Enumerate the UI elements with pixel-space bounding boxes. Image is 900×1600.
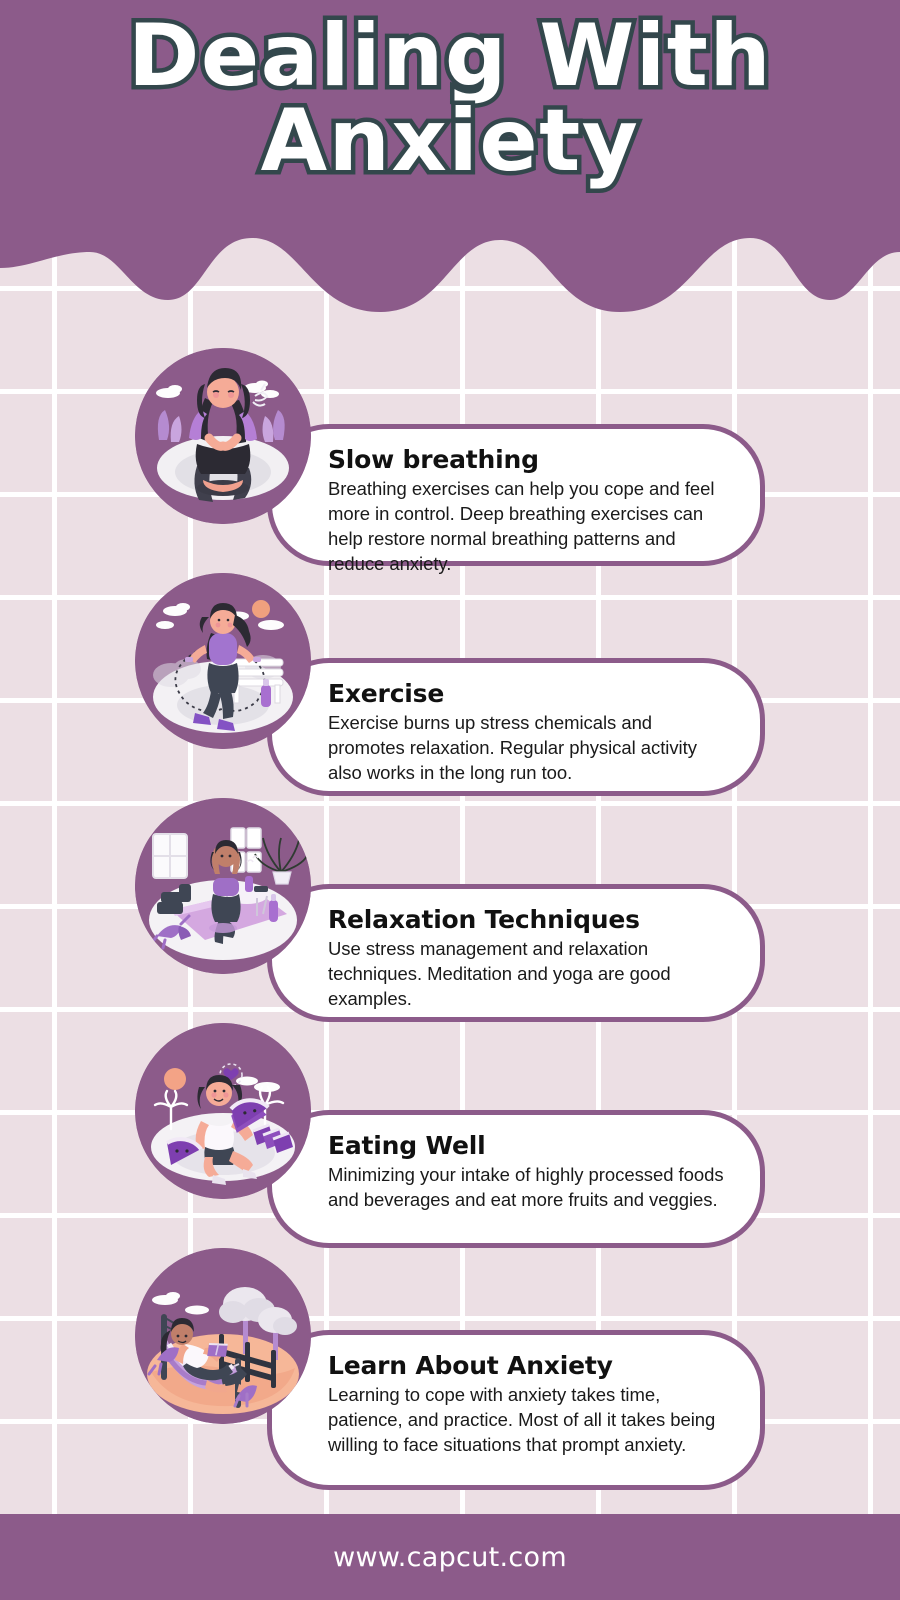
meditation-breathing-illustration bbox=[135, 348, 311, 524]
tip-body-1: Breathing exercises can help you cope an… bbox=[328, 477, 726, 577]
tip-title-3: Relaxation Techniques bbox=[328, 905, 726, 935]
tip-card-5[interactable]: Learn About Anxiety Learning to cope wit… bbox=[267, 1330, 765, 1490]
tip-title-4: Eating Well bbox=[328, 1131, 726, 1161]
tip-body-3: Use stress management and relaxation tec… bbox=[328, 937, 726, 1012]
tip-body-5: Learning to cope with anxiety takes time… bbox=[328, 1383, 726, 1458]
infographic-poster: Dealing With Anxiety bbox=[0, 0, 900, 1600]
header-banner: Dealing With Anxiety bbox=[0, 0, 900, 320]
tip-title-2: Exercise bbox=[328, 679, 726, 709]
tip-card-2[interactable]: Exercise Exercise burns up stress chemic… bbox=[267, 658, 765, 796]
tip-card-1[interactable]: Slow breathing Breathing exercises can h… bbox=[267, 424, 765, 566]
tip-card-4[interactable]: Eating Well Minimizing your intake of hi… bbox=[267, 1110, 765, 1248]
yoga-at-home-illustration bbox=[135, 798, 311, 974]
footer-url[interactable]: www.capcut.com bbox=[333, 1542, 567, 1573]
footer-bar: www.capcut.com bbox=[0, 1514, 900, 1600]
reading-in-hammock-illustration bbox=[135, 1248, 311, 1424]
tip-icon-1 bbox=[135, 348, 311, 524]
tip-icon-3 bbox=[135, 798, 311, 974]
tip-card-3[interactable]: Relaxation Techniques Use stress managem… bbox=[267, 884, 765, 1022]
tip-icon-5 bbox=[135, 1248, 311, 1424]
title-line-2: Anxiety bbox=[0, 99, 900, 184]
page-title: Dealing With Anxiety bbox=[0, 14, 900, 184]
tip-title-1: Slow breathing bbox=[328, 445, 726, 475]
tip-title-5: Learn About Anxiety bbox=[328, 1351, 726, 1381]
jump-rope-exercise-illustration bbox=[135, 573, 311, 749]
tip-icon-2 bbox=[135, 573, 311, 749]
tip-body-4: Minimizing your intake of highly process… bbox=[328, 1163, 726, 1213]
tip-icon-4 bbox=[135, 1023, 311, 1199]
tip-body-2: Exercise burns up stress chemicals and p… bbox=[328, 711, 726, 786]
eating-watermelon-beach-illustration bbox=[135, 1023, 311, 1199]
title-line-1: Dealing With bbox=[0, 14, 900, 99]
